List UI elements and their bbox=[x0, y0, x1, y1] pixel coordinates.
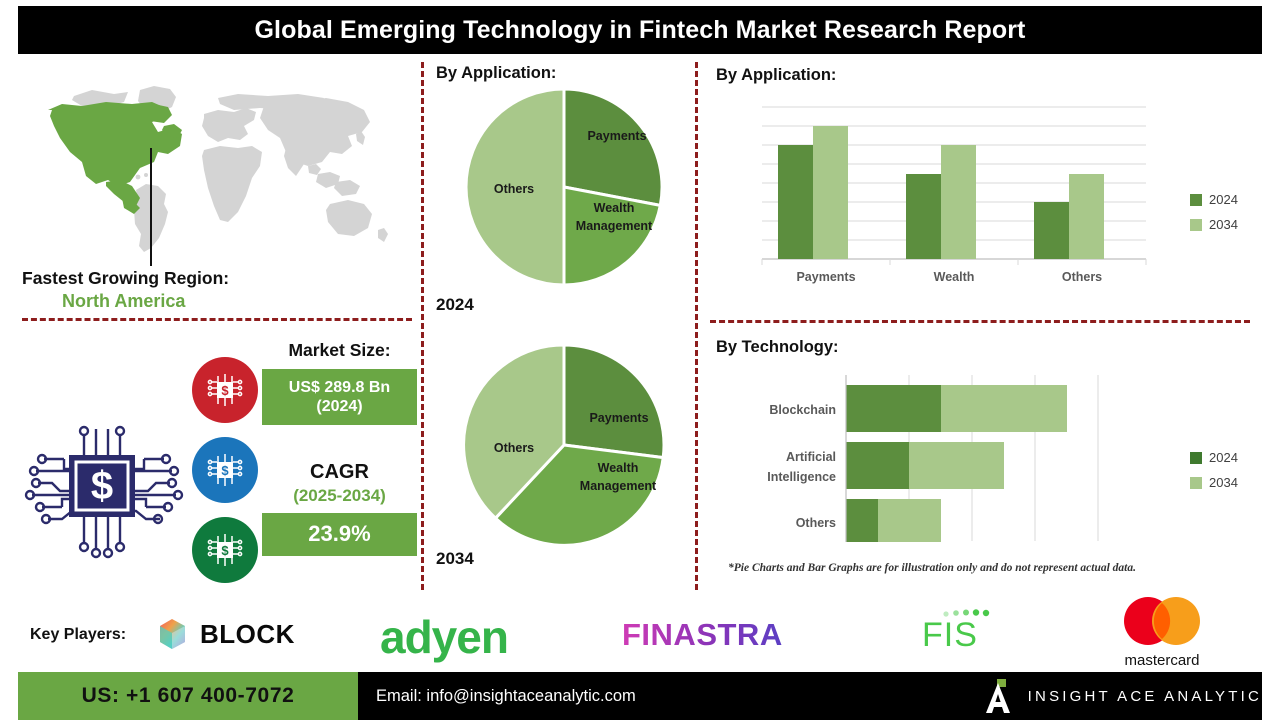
logo-finastra: FINASTRA bbox=[622, 618, 860, 652]
pie-2034-label-wealth-line2: Management bbox=[580, 479, 657, 493]
legend-label-tech-2024: 2024 bbox=[1209, 450, 1238, 465]
mastercard-wordmark: mastercard bbox=[1110, 652, 1214, 669]
logo-mastercard: mastercard bbox=[1110, 596, 1214, 669]
legend-item-2034: 2034 bbox=[1190, 217, 1238, 232]
by-application-tick-others: Others bbox=[1062, 270, 1102, 284]
key-players-label: Key Players: bbox=[30, 626, 126, 644]
cagr-years: (2025-2034) bbox=[262, 486, 417, 506]
legend-swatch-2024 bbox=[1190, 194, 1202, 206]
by-application-tick-wealth-line1: Wealth bbox=[934, 270, 975, 284]
by-technology-tick-others: Others bbox=[796, 516, 836, 530]
market-size-value-line1: US$ 289.8 Bn bbox=[266, 378, 413, 397]
block-icon bbox=[152, 614, 192, 654]
logo-adyen: adyen bbox=[380, 610, 508, 664]
bar-blockchain-2034 bbox=[941, 385, 1067, 432]
fintech-chip-icon: $ bbox=[14, 415, 194, 565]
svg-text:FINASTRA: FINASTRA bbox=[622, 618, 783, 652]
adyen-wordmark: adyen bbox=[380, 610, 508, 664]
footer-email[interactable]: Email: info@insightaceanalytic.com bbox=[376, 687, 636, 706]
footer-phone: US: +1 607 400-7072 bbox=[18, 672, 358, 720]
by-technology-tick-ai-line1: Artificial bbox=[786, 450, 836, 464]
logo-fis: FIS bbox=[918, 608, 1014, 659]
cagr-block: CAGR (2025-2034) 23.9% bbox=[262, 461, 417, 555]
by-application-legend: 2024 2034 bbox=[1190, 192, 1238, 242]
divider-vertical-right bbox=[695, 62, 698, 590]
pie-2034-label-payments: Payments bbox=[589, 411, 648, 425]
bar-ai-2034 bbox=[909, 442, 1004, 489]
pie-panel-2024: By Application: Payments Wealth Manageme… bbox=[436, 64, 691, 319]
bar-wealth-2034 bbox=[941, 145, 976, 259]
footer-brand-text: INSIGHT ACE ANALYTIC bbox=[1028, 688, 1262, 705]
pie-2024-label-wealth-line2: Management bbox=[576, 219, 653, 233]
bar-blockchain-2024 bbox=[846, 385, 941, 432]
svg-text:$: $ bbox=[91, 464, 113, 508]
bar-wealth-2024 bbox=[906, 174, 941, 259]
fastest-growing-region-label: Fastest Growing Region: bbox=[22, 268, 412, 289]
pie-2034-label-others: Others bbox=[494, 441, 534, 455]
legend-swatch-tech-2024 bbox=[1190, 452, 1202, 464]
by-technology-tick-ai-line2: Intelligence bbox=[767, 470, 836, 484]
footer-bar: US: +1 607 400-7072 Email: info@insighta… bbox=[0, 672, 1280, 720]
pie-2024-year: 2024 bbox=[436, 295, 691, 315]
cagr-label: CAGR bbox=[262, 461, 417, 484]
by-application-tick-payments: Payments bbox=[796, 270, 855, 284]
bar-payments-2034 bbox=[813, 126, 848, 259]
market-size-label: Market Size: bbox=[262, 340, 417, 361]
legend-swatch-tech-2034 bbox=[1190, 477, 1202, 489]
pie-2034-label-wealth-line1: Wealth bbox=[598, 461, 639, 475]
pie-2024-heading: By Application: bbox=[436, 64, 691, 83]
page-title: Global Emerging Technology in Fintech Ma… bbox=[255, 16, 1026, 45]
by-technology-tick-blockchain: Blockchain bbox=[769, 403, 836, 417]
legend-item-2024: 2024 bbox=[1190, 192, 1238, 207]
by-technology-plot: Blockchain Artificial Intelligence Other… bbox=[716, 371, 1186, 551]
chart-by-application: By Application: Payments Wealth bbox=[716, 66, 1256, 296]
svg-text:$: $ bbox=[221, 543, 229, 558]
chart-by-technology: By Technology: Blockchain Artificial Int… bbox=[716, 338, 1256, 568]
svg-text:FIS: FIS bbox=[922, 616, 978, 654]
fastest-growing-region-block: Fastest Growing Region: North America bbox=[22, 268, 412, 312]
legend-label-2034: 2034 bbox=[1209, 217, 1238, 232]
chip-badge-red: $ bbox=[192, 357, 258, 423]
bar-others-tech-2034 bbox=[878, 499, 941, 542]
world-map bbox=[18, 78, 414, 258]
logo-block: BLOCK bbox=[152, 614, 295, 654]
by-application-heading: By Application: bbox=[716, 66, 1256, 85]
legend-label-2024: 2024 bbox=[1209, 192, 1238, 207]
legend-label-tech-2034: 2034 bbox=[1209, 475, 1238, 490]
pie-2024-label-others: Others bbox=[494, 182, 534, 196]
bar-others-tech-2024 bbox=[846, 499, 878, 542]
legend-item-tech-2034: 2034 bbox=[1190, 475, 1238, 490]
chip-badge-green: $ bbox=[192, 517, 258, 583]
cagr-value: 23.9% bbox=[262, 513, 417, 555]
bar-payments-2024 bbox=[778, 145, 813, 259]
mastercard-icon bbox=[1110, 596, 1214, 646]
divider-vertical-left bbox=[421, 62, 424, 590]
report-header: Global Emerging Technology in Fintech Ma… bbox=[18, 6, 1262, 54]
finastra-wordmark-svg: FINASTRA bbox=[622, 618, 860, 652]
by-technology-legend: 2024 2034 bbox=[1190, 450, 1238, 500]
block-wordmark: BLOCK bbox=[200, 619, 295, 650]
market-size-block: Market Size: US$ 289.8 Bn (2024) CAGR (2… bbox=[262, 340, 417, 556]
chip-badge-column: $ $ $ bbox=[192, 357, 262, 597]
map-leader-line bbox=[150, 148, 152, 266]
market-size-value-line2: (2024) bbox=[266, 397, 413, 416]
pie-2034-year: 2034 bbox=[436, 549, 691, 569]
footer-brand: INSIGHT ACE ANALYTIC bbox=[984, 672, 1262, 720]
chip-badge-blue: $ bbox=[192, 437, 258, 503]
insight-ace-logo-icon bbox=[984, 677, 1014, 715]
pie-2024-label-wealth-line1: Wealth bbox=[594, 201, 635, 215]
divider-horizontal-right bbox=[710, 320, 1250, 323]
pie-chart-2034: Payments Wealth Management Others bbox=[436, 340, 686, 545]
fastest-growing-region-value: North America bbox=[62, 291, 412, 312]
svg-text:$: $ bbox=[221, 383, 229, 398]
legend-item-tech-2024: 2024 bbox=[1190, 450, 1238, 465]
fis-wordmark-svg: FIS bbox=[918, 608, 1014, 654]
pie-chart-2024: Payments Wealth Management Others bbox=[436, 87, 686, 287]
bar-ai-2024 bbox=[846, 442, 909, 489]
market-size-value: US$ 289.8 Bn (2024) bbox=[262, 369, 417, 425]
pie-2024-label-payments: Payments bbox=[587, 129, 646, 143]
pie-panel-2034: Payments Wealth Management Others 2034 bbox=[436, 340, 691, 590]
divider-horizontal-left bbox=[22, 318, 412, 321]
bar-others-2024 bbox=[1034, 202, 1069, 259]
bar-others-2034 bbox=[1069, 174, 1104, 259]
pie-2024-slice-payments bbox=[564, 89, 662, 205]
charts-disclaimer: *Pie Charts and Bar Graphs are for illus… bbox=[728, 562, 1248, 574]
pie-2034-slice-payments bbox=[564, 345, 664, 458]
by-application-plot: Payments Wealth Management Others bbox=[716, 99, 1186, 289]
legend-swatch-2034 bbox=[1190, 219, 1202, 231]
svg-text:$: $ bbox=[221, 463, 229, 478]
by-technology-heading: By Technology: bbox=[716, 338, 1256, 357]
